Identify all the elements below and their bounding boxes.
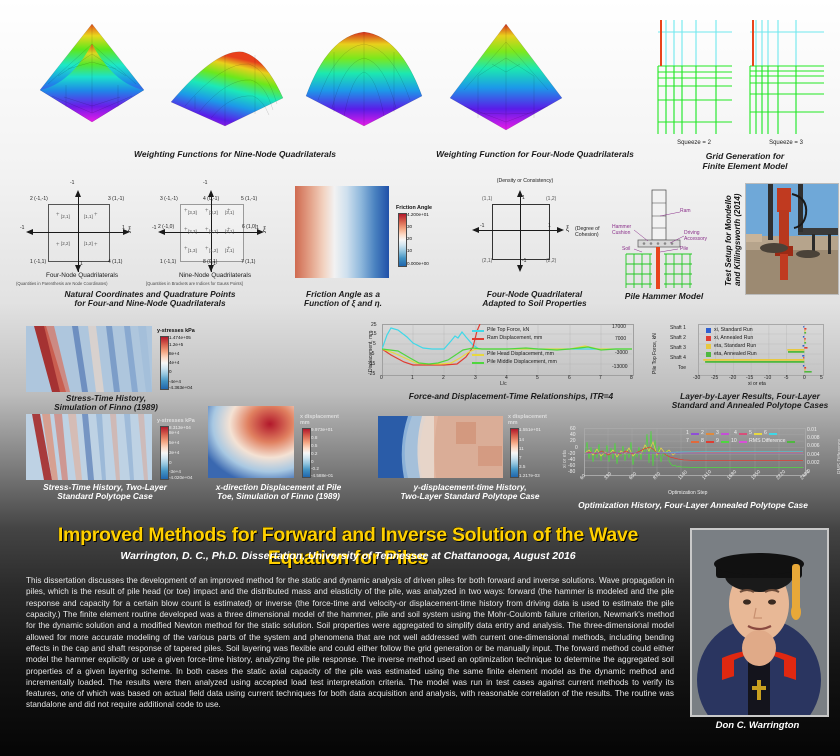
optimization-y2tick-0002: 0.002 — [807, 460, 820, 466]
force-chart-ytick-25n: -25 — [368, 371, 375, 377]
field-test-photo — [745, 183, 839, 295]
legend-label-pile-top-force: Pile Top Force, kN — [487, 327, 529, 333]
caption-stress-time-finno: Stress-Time History, Simulation of Finno… — [16, 394, 196, 413]
force-chart-xtick-0: 0 — [380, 375, 383, 381]
force-chart-y2tick-7000: 7000 — [615, 336, 626, 342]
optimization-ytick-20: 20 — [570, 438, 576, 444]
friction-colorbar — [398, 213, 407, 267]
caption-nine-node-weighting: Weighting Functions for Nine-Node Quadri… — [90, 150, 380, 160]
layer-chart-xtick-25n: -25 — [711, 375, 718, 381]
gauss-cross-icon: + — [56, 242, 60, 248]
stress-finno-colorbar — [160, 336, 169, 390]
optimization-legend-swatch-1 — [691, 433, 699, 435]
four-node-corner-3: 3 (1,-1) — [108, 196, 124, 202]
optimization-xlabel: Optimization Step — [668, 490, 707, 496]
ydisp-tick-2: 11 — [519, 446, 524, 451]
gauss-cross-icon: + — [184, 227, 188, 233]
layer-chart-xtick-5: 5 — [820, 375, 823, 381]
optimization-y2tick-0008: 0.008 — [807, 435, 820, 441]
ydisp-tick-0: 1.551e+01 — [519, 427, 541, 432]
layer-chart-legend-swatch-eta-standard — [706, 344, 711, 349]
caption-natural-coordinates: Natural Coordinates and Quadrature Point… — [20, 290, 280, 309]
nine-node-natural-coordinates-diagram: -1 1 -1 1 ξ 3 (-1,-1) 4 (0,-1) 5 (1,-1) … — [152, 186, 278, 272]
optimization-legend-swatch-9 — [721, 441, 729, 443]
force-chart-ytick-25: 25 — [371, 322, 377, 328]
xdisp-toe-tick-4: 0 — [311, 459, 314, 464]
xdisp-toe-tick-3: 0.2 — [311, 451, 317, 456]
grid-label-squeeze-3: Squeeze = 3 — [748, 140, 824, 146]
stress-time-finno-image — [26, 326, 152, 392]
layer-chart-legend-xi-annealed: xi, Annealed Run — [714, 335, 753, 341]
four-node-diagram-title: Four-Node Quadrilaterals — [22, 272, 142, 279]
layer-chart-cat-shaft2: Shaft 2 — [670, 335, 686, 341]
force-chart-ytick-5: 5 — [373, 341, 376, 347]
force-chart-y2tick-17000: 17000 — [612, 324, 626, 330]
layer-chart-cat-shaft4: Shaft 4 — [670, 355, 686, 361]
legend-label-ram-displacement: Ram Displacement, mm — [487, 335, 542, 341]
surface-plot-corner-node — [30, 14, 155, 144]
friction-tick-1: 30 — [407, 224, 412, 229]
caption-stress-time-twolayer: Stress-Time History, Two-Layer Standard … — [10, 483, 200, 502]
optimization-legend-7: 7 — [686, 438, 689, 444]
force-chart-xtick-5: 5 — [536, 375, 539, 381]
optimization-legend-swatch-6 — [769, 433, 777, 435]
grid-generation-squeeze-2 — [652, 18, 734, 136]
legend-label-pile-middle-displacement: Pile Middle Displacement, mm — [487, 359, 557, 365]
layer-chart-legend-eta-annealed: eta, Annealed Run — [714, 351, 757, 357]
stress-finno-tick-1: 1.2e+5 — [169, 342, 183, 347]
force-chart-ytick-15n: -15 — [368, 361, 375, 367]
optimization-legend-swatch-4 — [739, 433, 747, 435]
stress-finno-tick-4: 0 — [169, 369, 172, 374]
four-node-natural-coordinates-diagram: -1 1 -1 1 ξ 2 (-1,-1) 3 (1,-1) 1 (-1,1) … — [22, 186, 142, 272]
four-node-gauss-21: [2,1] — [61, 214, 70, 219]
caption-layer-by-layer-chart: Layer-by-Layer Results, Four-Layer Stand… — [660, 392, 840, 411]
nine-node-gauss-33: [3,3] — [188, 210, 197, 215]
hammer-label-soil: Soil — [622, 246, 630, 252]
force-chart-y2tick-3000n: -3000 — [615, 350, 628, 356]
force-chart-xtick-6: 6 — [568, 375, 571, 381]
nine-node-gauss-32: [3,2] — [209, 210, 218, 215]
stress-twolayer-colorbar-title: y-stresses kPa — [157, 418, 195, 424]
stress-finno-colorbar-title: y-stresses kPa — [157, 328, 195, 334]
friction-tick-2: 20 — [407, 236, 412, 241]
layer-chart-xtick-30n: -30 — [693, 375, 700, 381]
nine-node-gauss-12: [1,2] — [209, 248, 218, 253]
nine-node-corner-3: 3 (-1,-1) — [160, 196, 178, 202]
layer-chart-xtick-0: 0 — [803, 375, 806, 381]
nine-node-corner-1: 1 (-1,1) — [160, 259, 176, 265]
stress-finno-tick-3: 4e+4 — [169, 360, 179, 365]
ydisp-twolayer-image — [378, 416, 503, 478]
optimization-legend-3: 3 — [716, 430, 719, 436]
nine-node-gauss-22: [2,2] — [209, 229, 218, 234]
soil-quad-corner-22: (2,2) — [546, 258, 556, 264]
four-node-corner-2: 2 (-1,-1) — [30, 196, 48, 202]
four-node-gauss-12: [1,2] — [84, 241, 93, 246]
layer-chart-legend-swatch-xi-annealed — [706, 336, 711, 341]
layer-chart-xtick-5n: -5 — [784, 375, 788, 381]
ydisp-tick-1: 14 — [519, 437, 524, 442]
gauss-cross-icon: + — [56, 212, 60, 218]
layer-chart-legend-swatch-eta-annealed — [706, 352, 711, 357]
stress-twolayer-colorbar — [160, 426, 169, 480]
nine-node-corner-5: 5 (1,-1) — [241, 196, 257, 202]
nine-node-axis-name-xi: ξ — [263, 227, 266, 234]
force-chart-ytick-15: 15 — [371, 331, 377, 337]
grid-generation-squeeze-3 — [744, 18, 826, 136]
hammer-label-driving-accessory: Driving Accessory — [684, 230, 707, 242]
nine-node-node-8: 8 (0,1) — [203, 259, 217, 265]
ydisp-colorbar — [510, 428, 519, 478]
optimization-legend-rms: RMS Difference — [749, 438, 786, 444]
force-chart-xtick-3: 3 — [474, 375, 477, 381]
hammer-label-pile: Pile — [680, 246, 688, 252]
stress-finno-tick-6: -4.363e+04 — [169, 385, 192, 390]
four-node-label-eta-top: -1 — [70, 180, 74, 186]
portrait-caption: Don C. Warrington — [690, 720, 825, 731]
xdisp-toe-tick-1: 0.8 — [311, 435, 317, 440]
optimization-legend-swatch-7 — [691, 441, 699, 443]
ydisp-tick-5: 1.217e-03 — [519, 473, 540, 478]
gauss-cross-icon: + — [205, 227, 209, 233]
optimization-legend-6: 6 — [764, 430, 767, 436]
legend-swatch-pile-top-force — [472, 330, 484, 332]
nine-node-corner-7: 7 (1,1) — [241, 259, 255, 265]
layer-chart-xlabel: xi or eta — [748, 381, 766, 387]
ydisp-tick-3: 7 — [519, 455, 522, 460]
xdisp-toe-colorbar-title: x displacement mm — [300, 414, 339, 426]
optimization-legend-swatch-rms — [787, 441, 795, 443]
xdisp-toe-image — [208, 406, 294, 478]
legend-label-pile-head-displacement: Pile Head Displacement, mm — [487, 351, 554, 357]
layer-chart-legend-swatch-xi-standard — [706, 328, 711, 333]
nine-node-node-2: 2 (-1,0) — [158, 224, 174, 230]
caption-soil-quadrilateral: Four-Node Quadrilateral Adapted to Soil … — [452, 290, 617, 309]
poster-root: Weighting Functions for Nine-Node Quadri… — [0, 0, 840, 756]
stress-finno-tick-5: -4e+4 — [169, 379, 181, 384]
stress-finno-tick-2: 8e+4 — [169, 351, 179, 356]
force-chart-xtick-2: 2 — [442, 375, 445, 381]
nine-node-node-6: 6 (1,0) — [242, 224, 256, 230]
four-node-gauss-22: [2,2] — [61, 241, 70, 246]
soil-quad-corner-12: (1,2) — [546, 196, 556, 202]
stress-twolayer-tick-6: -4.020e+04 — [169, 475, 192, 480]
note-gauss-indices: [Quantities in Brackets are Indices for … — [146, 281, 243, 286]
abstract-text: This dissertation discusses the developm… — [26, 575, 674, 711]
caption-ydisp-twolayer: y-displacement-time History, Two-Layer S… — [370, 483, 570, 502]
optimization-history-chart: xi or eta 60 40 20 0 -20 -40 -60 -80 0.0… — [558, 426, 840, 498]
force-chart-y2tick-13000n: -13000 — [612, 364, 628, 370]
nine-node-gauss-21: [2,1] — [225, 229, 234, 234]
nine-node-label-eta-top: -1 — [203, 180, 207, 186]
stress-twolayer-tick-3: 3e+4 — [169, 450, 179, 455]
caption-grid-generation: Grid Generation for Finite Element Model — [660, 152, 830, 171]
force-chart-xtick-8: 8 — [630, 375, 633, 381]
nine-node-gauss-13: [1,3] — [188, 248, 197, 253]
hammer-label-cushion: Hammer Cushion — [612, 224, 631, 236]
soil-quad-density-note: (Density or Consistency) — [470, 178, 580, 184]
friction-angle-field-image — [295, 186, 389, 278]
caption-pile-hammer-model: Pile Hammer Model — [608, 292, 720, 302]
nine-node-gauss-11: [1,1] — [225, 248, 234, 253]
optimization-y2tick-0004: 0.004 — [807, 452, 820, 458]
ydisp-tick-4: 3.5 — [519, 464, 525, 469]
layer-chart-legend-xi-standard: xi, Standard Run — [714, 327, 753, 333]
page-title: Improved Methods for Forward and Inverse… — [18, 524, 678, 570]
friction-tick-3: 10 — [407, 248, 412, 253]
four-node-axis-name-xi: ξ — [128, 227, 131, 234]
xdisp-toe-tick-5: -0.2 — [311, 466, 319, 471]
friction-tick-0: 4.200e+01 — [407, 212, 429, 217]
optimization-legend-swatch-5 — [754, 433, 762, 435]
optimization-legend-2: 2 — [701, 430, 704, 436]
caption-optimization-history: Optimization History, Four-Layer Anneale… — [548, 501, 838, 510]
author-portrait — [690, 528, 829, 717]
optimization-legend-9: 9 — [716, 438, 719, 444]
force-displacement-chart: Displacement, mm -25 -15 -5 5 15 25 0 1 … — [360, 322, 660, 390]
friction-tick-4: 0.000e+00 — [407, 261, 429, 266]
stress-finno-tick-0: 1.474e+05 — [169, 335, 191, 340]
caption-xdisp-toe: x-direction Displacement at Pile Toe, Si… — [196, 483, 361, 502]
nine-node-diagram-title: Nine-Node Quadrilaterals — [152, 272, 278, 279]
soil-quad-axis-name-xi: ξ — [566, 226, 569, 233]
optimization-legend-swatch-10 — [739, 441, 747, 443]
byline: Warrington, D. C., Ph.D. Dissertation, U… — [18, 550, 678, 562]
four-node-gauss-11: [1,1] — [84, 214, 93, 219]
force-chart-xtick-7: 7 — [599, 375, 602, 381]
optimization-legend-5: 5 — [749, 430, 752, 436]
friction-colorbar-title: Friction Angle — [396, 205, 432, 211]
gauss-cross-icon: + — [184, 208, 188, 214]
optimization-legend-swatch-3 — [721, 433, 729, 435]
layer-chart-cat-toe: Toe — [678, 365, 686, 371]
force-chart-y2label: Pile Top Force, kN — [652, 333, 658, 374]
legend-swatch-pile-head-displacement — [472, 354, 484, 356]
xdisp-toe-tick-6: -4.588e-01 — [311, 473, 333, 478]
caption-friction-angle: Friction Angle as a Function of ξ and η. — [288, 290, 398, 309]
surface-plot-four-node — [440, 14, 570, 146]
optimization-legend-swatch-8 — [706, 441, 714, 443]
gauss-cross-icon: + — [184, 246, 188, 252]
gauss-cross-icon: + — [94, 242, 98, 248]
stress-twolayer-tick-2: 5e+4 — [169, 440, 179, 445]
optimization-y2tick-001: 0.01 — [807, 427, 817, 433]
caption-four-node-weighting: Weighting Function for Four-Node Quadril… — [410, 150, 660, 160]
optimization-legend-1: 1 — [686, 430, 689, 436]
ydisp-colorbar-title: x displacement mm — [508, 414, 547, 426]
optimization-legend-swatch-2 — [706, 433, 714, 435]
grid-label-squeeze-2: Squeeze = 2 — [656, 140, 732, 146]
force-chart-xlabel: L/c — [500, 381, 507, 387]
soil-quad-corner-11: (1,1) — [482, 196, 492, 202]
stress-twolayer-tick-5: -3e+4 — [169, 469, 181, 474]
xdisp-toe-colorbar — [302, 428, 311, 478]
gauss-cross-icon: + — [94, 212, 98, 218]
four-node-corner-4: 4 (1,1) — [108, 259, 122, 265]
layer-chart-cat-shaft3: Shaft 3 — [670, 345, 686, 351]
legend-swatch-ram-displacement — [472, 338, 484, 340]
surface-plot-center-node — [300, 16, 428, 144]
layer-by-layer-chart: Shaft 1 Shaft 2 Shaft 3 Shaft 4 Toe -30 … — [668, 322, 838, 390]
nine-node-node-4: 4 (0,-1) — [203, 196, 219, 202]
optimization-legend-10: 10 — [731, 438, 737, 444]
nine-node-label-xi-left: -1 — [152, 225, 156, 231]
four-node-corner-1: 1 (-1,1) — [30, 259, 46, 265]
soil-quad-eta-top: 1 — [522, 195, 525, 201]
xdisp-toe-tick-2: 0.5 — [311, 443, 317, 448]
caption-field-test-photo: Test Setup for Mondello and Killingswort… — [724, 194, 742, 286]
force-chart-xtick-1: 1 — [411, 375, 414, 381]
xdisp-toe-tick-0: 9.973e+01 — [311, 427, 333, 432]
layer-chart-xtick-20n: -20 — [729, 375, 736, 381]
caption-force-displacement-chart: Force-and Displacement-Time Relationship… — [366, 392, 656, 401]
layer-chart-cat-shaft1: Shaft 1 — [670, 325, 686, 331]
soil-quad-cohesion-note: (Degree of Cohesion) — [575, 226, 600, 238]
layer-chart-legend-eta-standard: eta, Standard Run — [714, 343, 756, 349]
optimization-ytick-80n: -80 — [568, 469, 575, 475]
optimization-ytick-0: 0 — [575, 445, 578, 451]
soil-quad-eta-bottom: -1 — [522, 258, 526, 264]
four-node-label-eta-bottom: 1 — [80, 261, 83, 267]
soil-quad-xi-left: -1 — [480, 223, 484, 229]
stress-twolayer-tick-4: 0 — [169, 460, 172, 465]
nine-node-gauss-23: [2,3] — [188, 229, 197, 234]
gauss-cross-icon: + — [205, 208, 209, 214]
optimization-y2tick-0006: 0.006 — [807, 443, 820, 449]
force-chart-ytick-5n: -5 — [370, 351, 374, 357]
four-node-label-xi-right: 1 — [122, 225, 125, 231]
hammer-label-ram: Ram — [680, 208, 691, 214]
stress-twolayer-tick-1: 8e+4 — [169, 430, 179, 435]
optimization-legend-8: 8 — [701, 438, 704, 444]
four-node-label-xi-left: -1 — [20, 225, 24, 231]
stress-time-twolayer-image — [26, 414, 152, 480]
gauss-cross-icon: + — [205, 246, 209, 252]
soil-quad-corner-21: (2,1) — [482, 258, 492, 264]
legend-swatch-pile-middle-displacement — [472, 362, 484, 364]
optimization-legend-4: 4 — [734, 430, 737, 436]
surface-plot-mid-node — [165, 22, 290, 144]
soil-quad-xi-right: 1 — [548, 223, 551, 229]
nine-node-gauss-31: [3,1] — [225, 210, 234, 215]
note-node-coordinates: (Quantities in Parenthesis are Node Coor… — [16, 281, 107, 286]
